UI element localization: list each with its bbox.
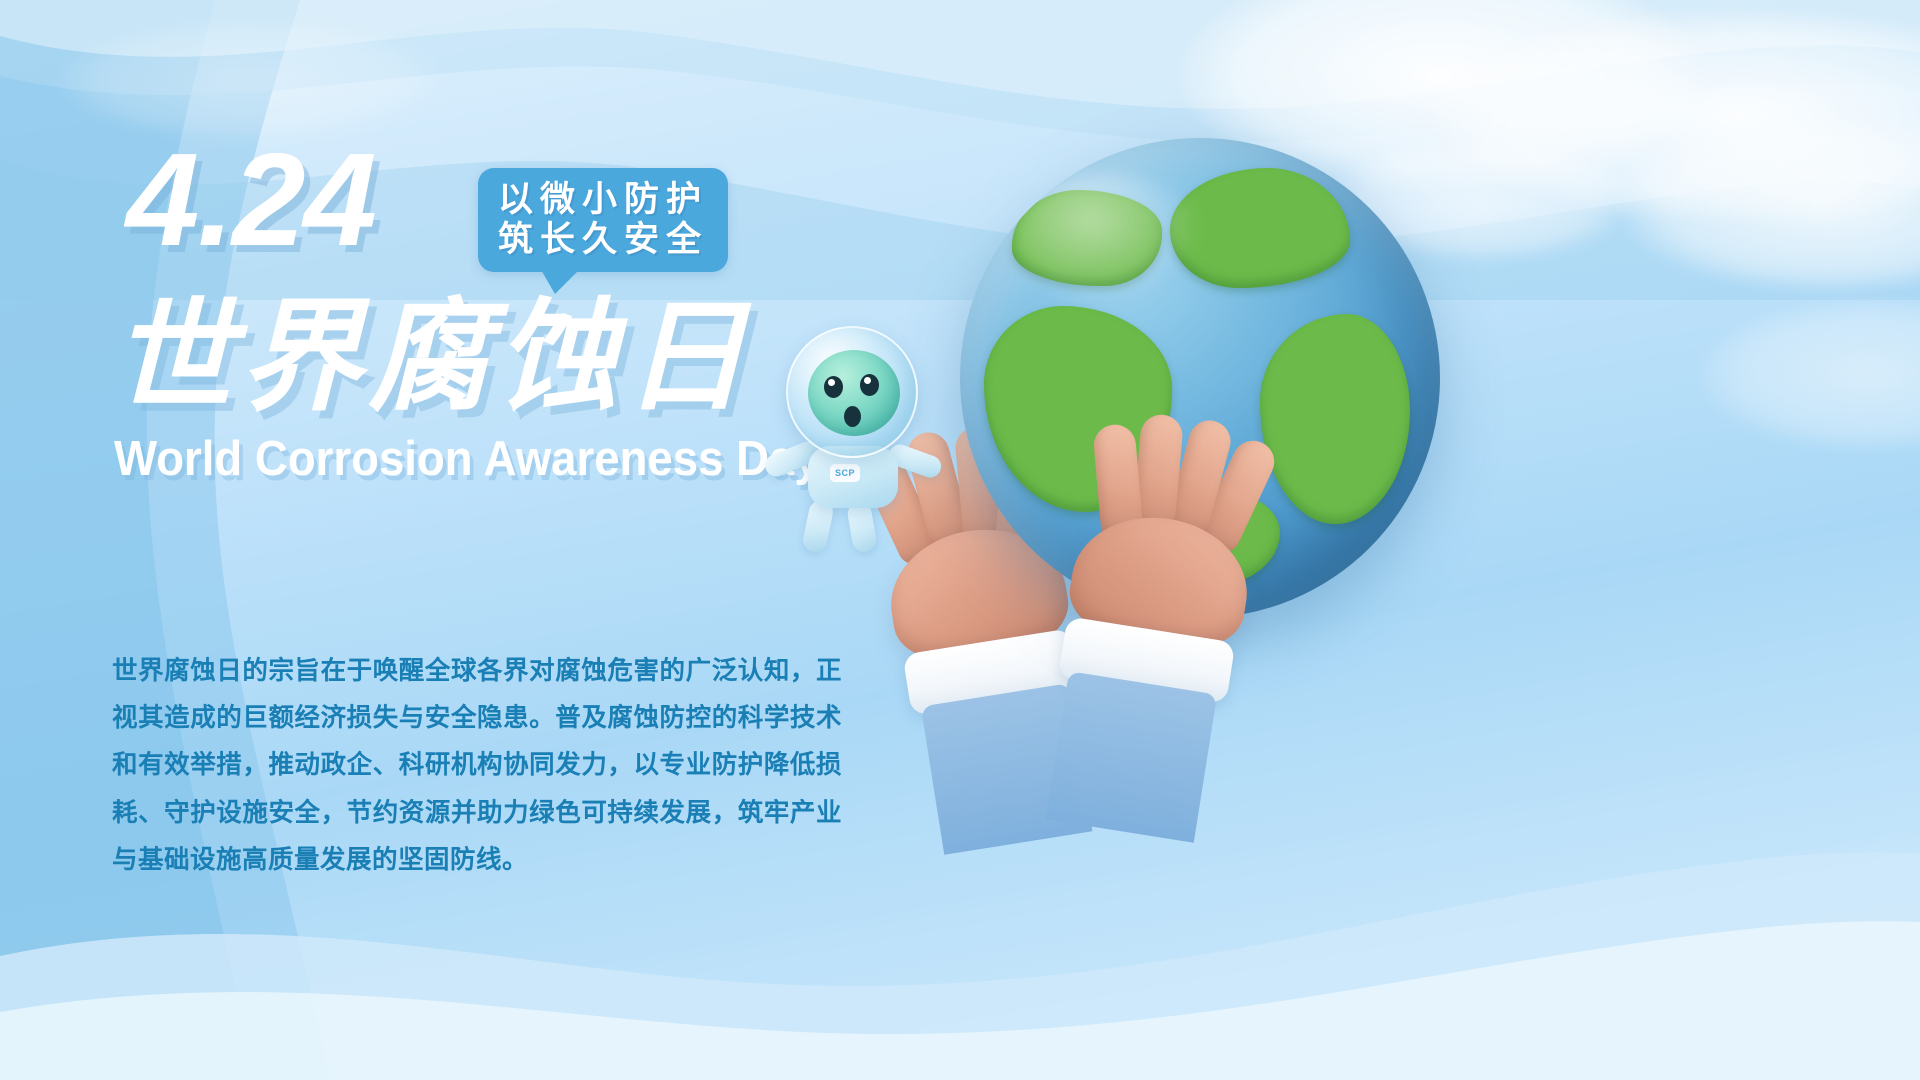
cloud-icon [60, 20, 440, 140]
mascot-eye-highlight [828, 379, 835, 386]
cloud-icon [1620, 120, 1920, 290]
page-title-english: World Corrosion Awareness Day [114, 431, 878, 487]
date-row: 4.24 以微小防护 筑长久安全 [96, 150, 936, 268]
event-date: 4.24 [126, 134, 375, 266]
astronaut-mascot: SCP [768, 322, 938, 542]
poster-canvas: 4.24 以微小防护 筑长久安全 世界腐蚀日 World Corrosion A… [0, 0, 1920, 1080]
mascot-mouth [844, 406, 861, 427]
slogan-speech-bubble: 以微小防护 筑长久安全 [478, 168, 728, 272]
mascot-badge: SCP [830, 464, 860, 482]
body-paragraph: 世界腐蚀日的宗旨在于唤醒全球各界对腐蚀危害的广泛认知，正视其造成的巨额经济损失与… [112, 648, 842, 884]
slogan-line-1: 以微小防护 [498, 180, 708, 220]
globe-illustration [880, 120, 1560, 940]
speech-bubble-tail-icon [540, 268, 581, 294]
slogan-line-2: 筑长久安全 [498, 220, 708, 260]
mascot-eye-highlight [864, 377, 871, 384]
body-paragraph-text: 世界腐蚀日的宗旨在于唤醒全球各界对腐蚀危害的广泛认知，正视其造成的巨额经济损失与… [112, 648, 842, 884]
cloud-icon [1700, 300, 1920, 450]
mascot-leg-right [846, 500, 878, 553]
sleeve [1046, 671, 1218, 843]
landmass [1260, 314, 1410, 524]
globe-highlight [1014, 174, 1204, 304]
